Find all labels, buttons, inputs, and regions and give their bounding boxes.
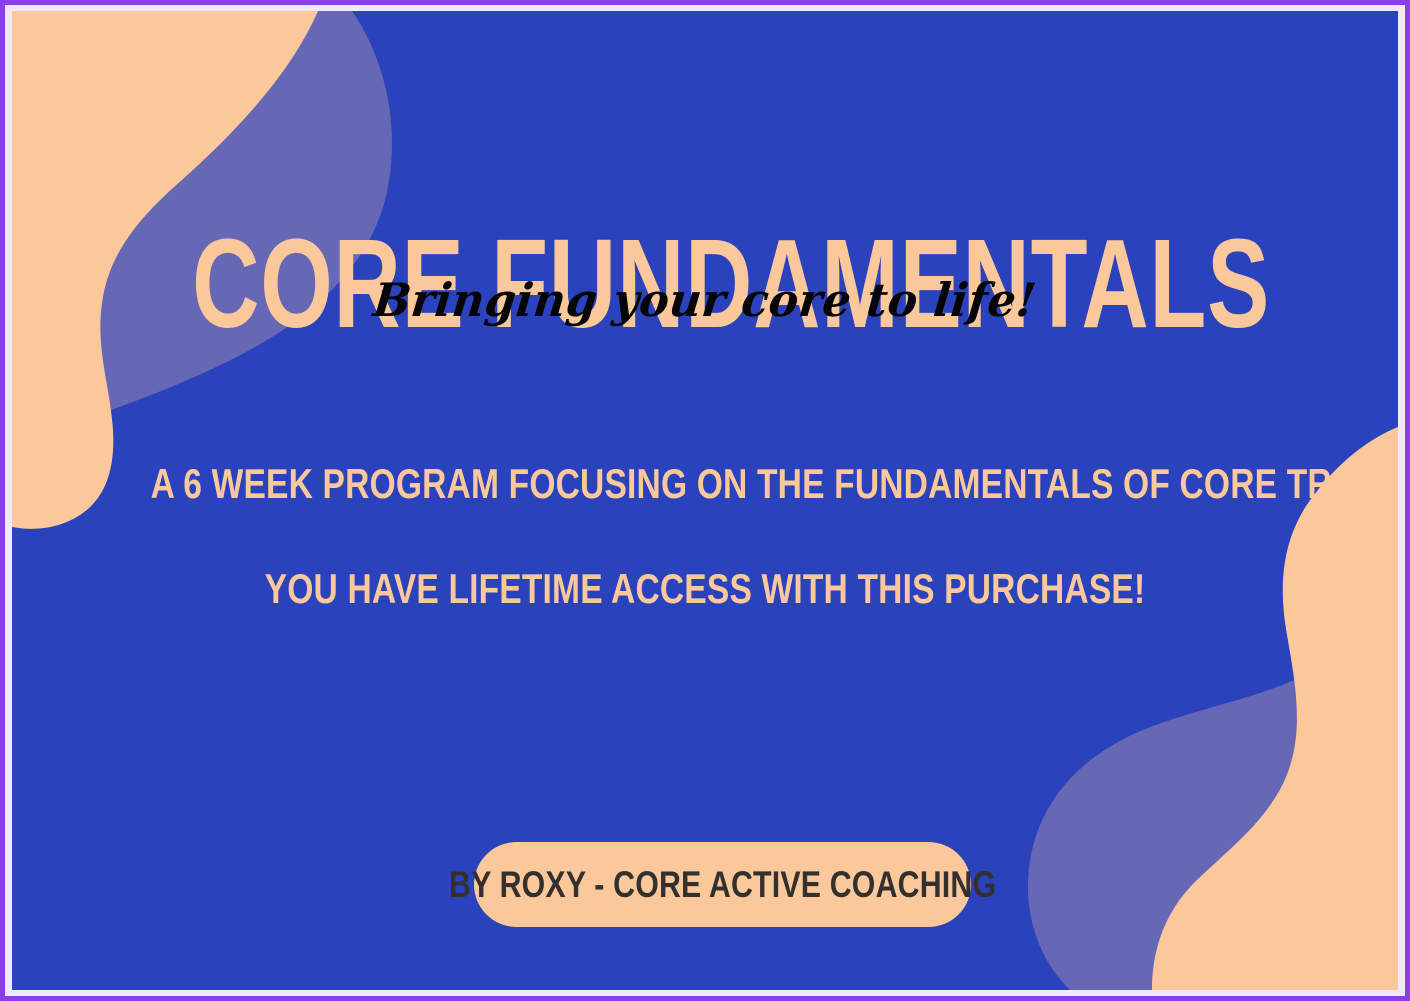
attribution-button[interactable]: BY ROXY - CORE ACTIVE COACHING — [474, 842, 971, 927]
attribution-button-label: BY ROXY - CORE ACTIVE COACHING — [449, 866, 996, 903]
poster-body: CORE FUNDAMENTALS Bringing your core to … — [12, 11, 1398, 990]
poster-content: CORE FUNDAMENTALS Bringing your core to … — [12, 11, 1398, 990]
tagline: Bringing your core to life! — [37, 277, 1372, 323]
lifetime-access-line: YOU HAVE LIFETIME ACCESS WITH THIS PURCH… — [151, 568, 1260, 610]
program-description-line: A 6 WEEK PROGRAM FOCUSING ON THE FUNDAME… — [151, 463, 1260, 505]
poster-canvas: CORE FUNDAMENTALS Bringing your core to … — [0, 0, 1410, 1001]
